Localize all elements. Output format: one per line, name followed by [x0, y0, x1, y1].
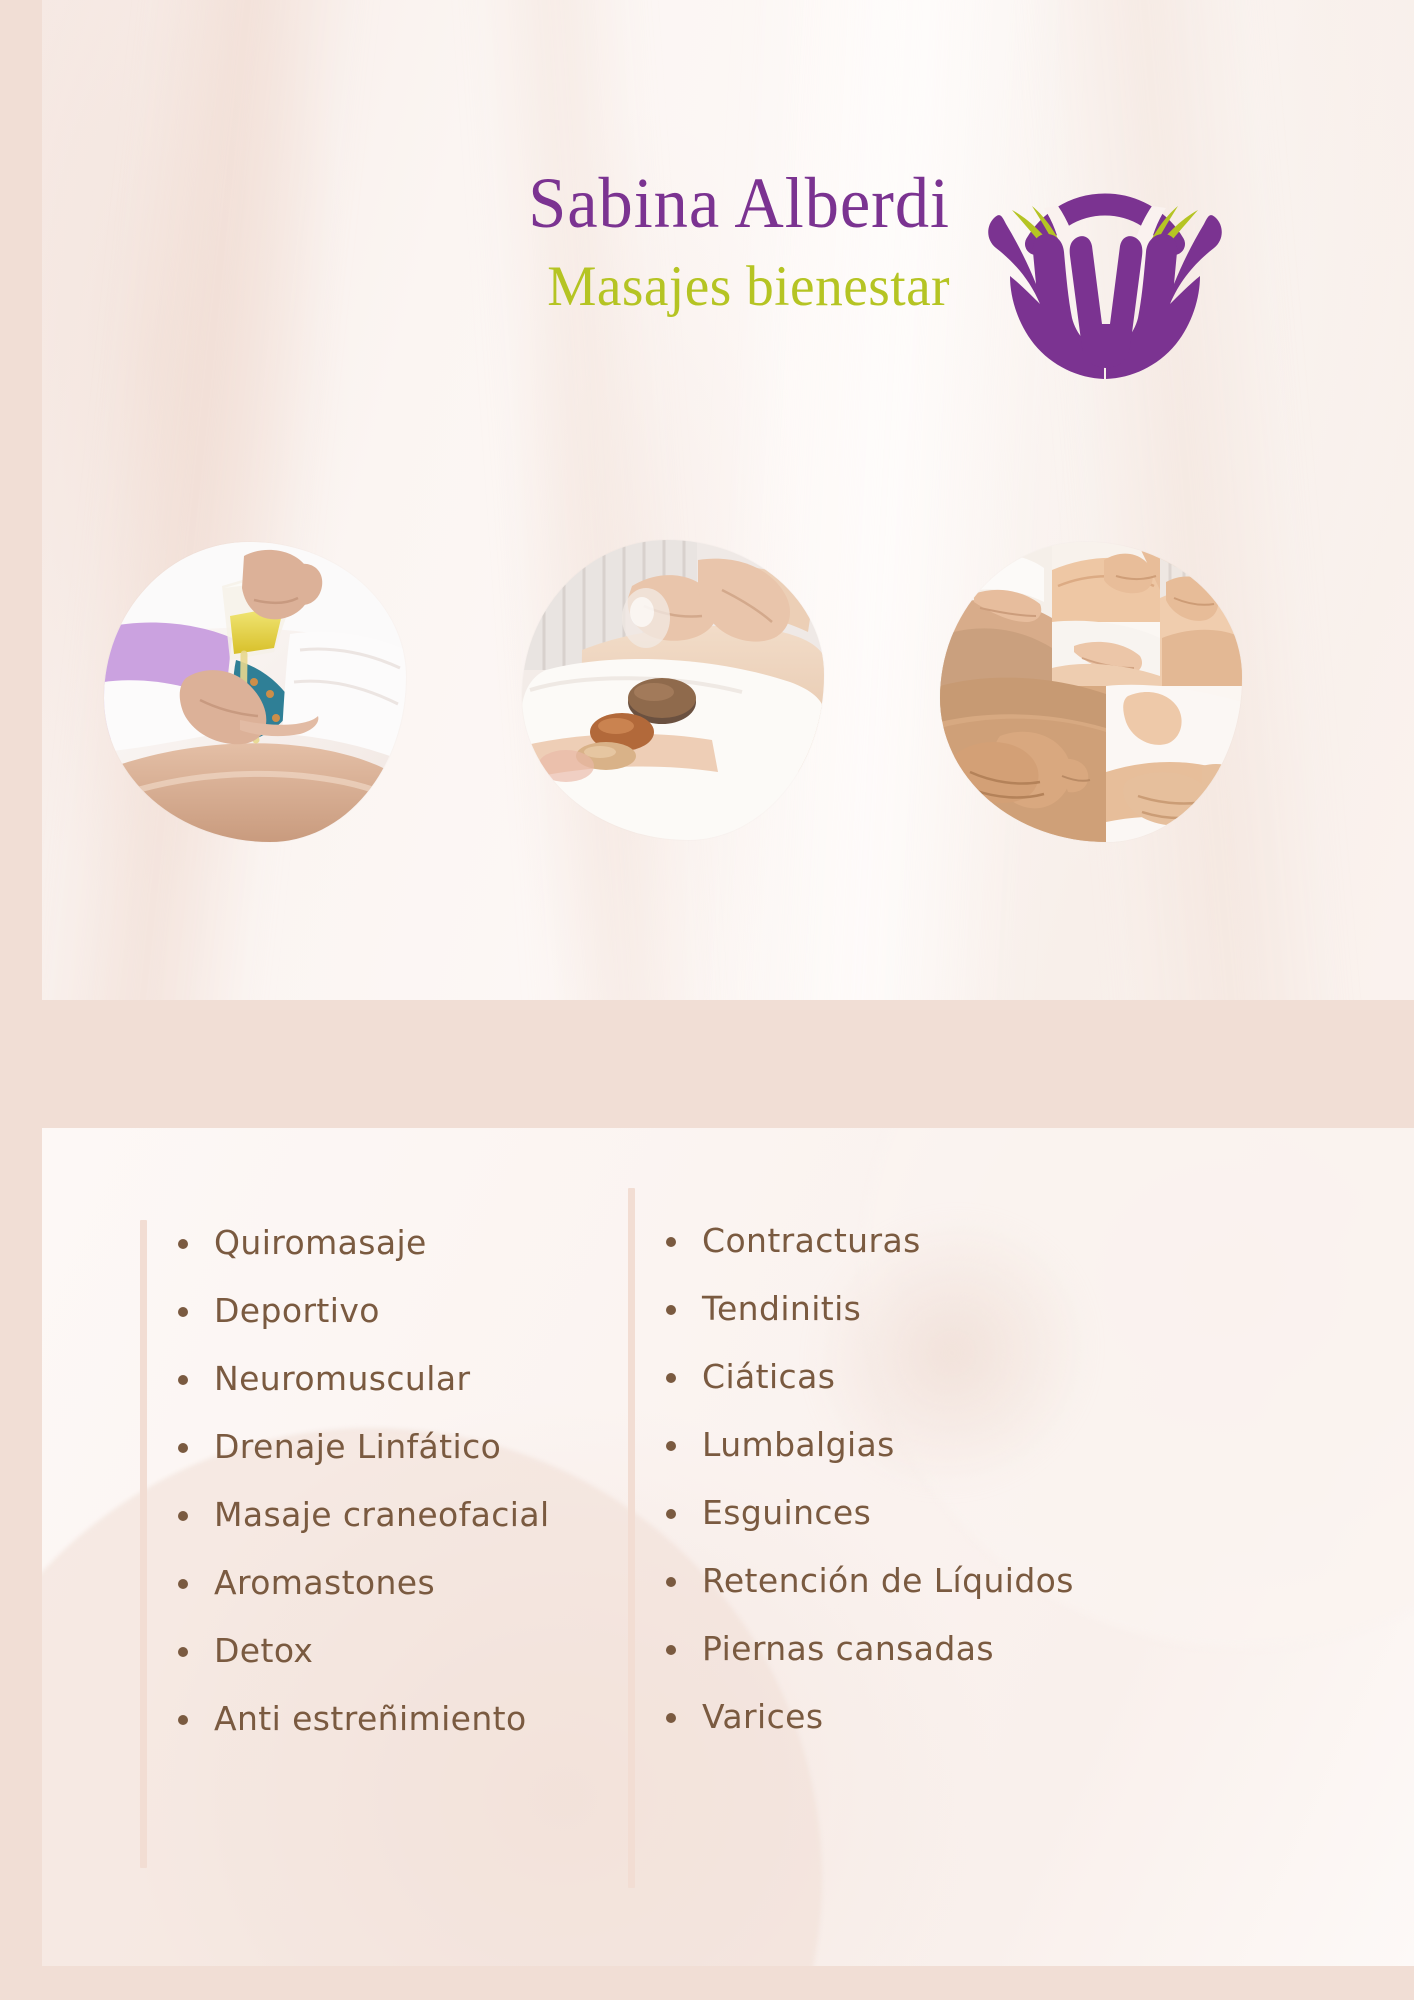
bullet-icon: [666, 1645, 676, 1655]
list-item-label: Tendinitis: [702, 1289, 861, 1328]
bullet-icon: [666, 1237, 676, 1247]
list-item: Masaje craneofacial: [172, 1494, 612, 1536]
list-item-label: Detox: [214, 1631, 313, 1670]
bullet-icon: [178, 1715, 188, 1725]
bullet-icon: [178, 1307, 188, 1317]
list-item: Deportivo: [172, 1290, 612, 1332]
hot-stones-massage-photo: [522, 540, 824, 840]
list-item-label: Deportivo: [214, 1291, 380, 1330]
list-item: Aromastones: [172, 1562, 612, 1604]
list-item: Contracturas: [660, 1220, 1160, 1262]
bullet-icon: [666, 1441, 676, 1451]
list-item: Quiromasaje: [172, 1222, 612, 1264]
bullet-icon: [178, 1647, 188, 1657]
photo-row: [42, 530, 1414, 850]
list-item-label: Neuromuscular: [214, 1359, 470, 1398]
list-item: Drenaje Linfático: [172, 1426, 612, 1468]
list-item-label: Contracturas: [702, 1221, 921, 1260]
list-item-label: Esguinces: [702, 1493, 871, 1532]
oil-massage-photo: [104, 542, 406, 842]
list-item: Ciáticas: [660, 1356, 1160, 1398]
bullet-icon: [666, 1577, 676, 1587]
list-item-label: Anti estreñimiento: [214, 1699, 527, 1738]
list-item: Piernas cansadas: [660, 1628, 1160, 1670]
list-item-label: Lumbalgias: [702, 1425, 895, 1464]
list-item-label: Varices: [702, 1697, 823, 1736]
list-item-label: Aromastones: [214, 1563, 435, 1602]
bullet-icon: [178, 1375, 188, 1385]
bullet-icon: [178, 1579, 188, 1589]
list-item-label: Quiromasaje: [214, 1223, 427, 1262]
bullet-icon: [666, 1509, 676, 1519]
bullet-icon: [666, 1713, 676, 1723]
bullet-icon: [666, 1305, 676, 1315]
bullet-icon: [666, 1373, 676, 1383]
divider-left: [140, 1220, 147, 1868]
list-item: Anti estreñimiento: [172, 1698, 612, 1740]
list-item: Tendinitis: [660, 1288, 1160, 1330]
brand-title: Sabina Alberdi: [171, 160, 950, 246]
brand-text-block: Sabina Alberdi Masajes bienestar: [130, 160, 950, 322]
list-item-label: Piernas cansadas: [702, 1629, 994, 1668]
list-item-label: Masaje craneofacial: [214, 1495, 550, 1534]
open-hands-with-leaves-logo: [980, 148, 1230, 398]
services-column-left: Quiromasaje Deportivo Neuromuscular Dren…: [172, 1222, 612, 1766]
brand-header: Sabina Alberdi Masajes bienestar: [130, 160, 1250, 390]
divider-right: [628, 1188, 635, 1888]
list-item-label: Drenaje Linfático: [214, 1427, 501, 1466]
list-item: Esguinces: [660, 1492, 1160, 1534]
list-item-label: Retención de Líquidos: [702, 1561, 1074, 1600]
services-list-left: Quiromasaje Deportivo Neuromuscular Dren…: [172, 1222, 612, 1740]
services-list-right: Contracturas Tendinitis Ciáticas Lumbalg…: [660, 1220, 1160, 1738]
list-item: Lumbalgias: [660, 1424, 1160, 1466]
brand-subtitle: Masajes bienestar: [155, 252, 950, 322]
list-item: Neuromuscular: [172, 1358, 612, 1400]
services-panel: Quiromasaje Deportivo Neuromuscular Dren…: [42, 1128, 1414, 1966]
list-item: Detox: [172, 1630, 612, 1672]
bullet-icon: [178, 1239, 188, 1249]
list-item-label: Ciáticas: [702, 1357, 835, 1396]
bullet-icon: [178, 1443, 188, 1453]
list-item: Retención de Líquidos: [660, 1560, 1160, 1602]
massage-collage-photo: [940, 542, 1242, 842]
poster-page: Sabina Alberdi Masajes bienestar: [0, 0, 1414, 2000]
list-item: Varices: [660, 1696, 1160, 1738]
services-column-right: Contracturas Tendinitis Ciáticas Lumbalg…: [660, 1220, 1160, 1764]
bullet-icon: [178, 1511, 188, 1521]
